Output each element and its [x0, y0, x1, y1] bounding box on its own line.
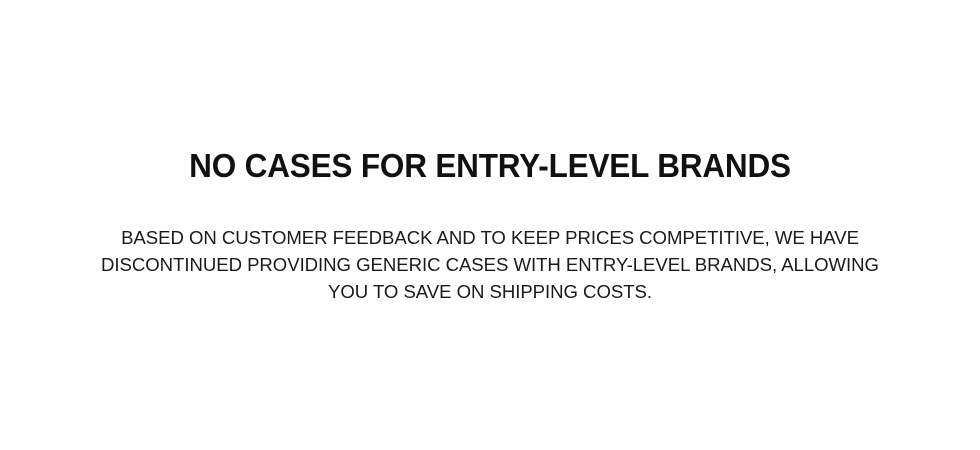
promo-body-text: BASED ON CUSTOMER FEEDBACK AND TO KEEP P… [90, 184, 890, 305]
promo-banner-section: NO CASES FOR ENTRY-LEVEL BRANDS BASED ON… [0, 0, 980, 450]
promo-heading: NO CASES FOR ENTRY-LEVEL BRANDS [189, 148, 791, 184]
